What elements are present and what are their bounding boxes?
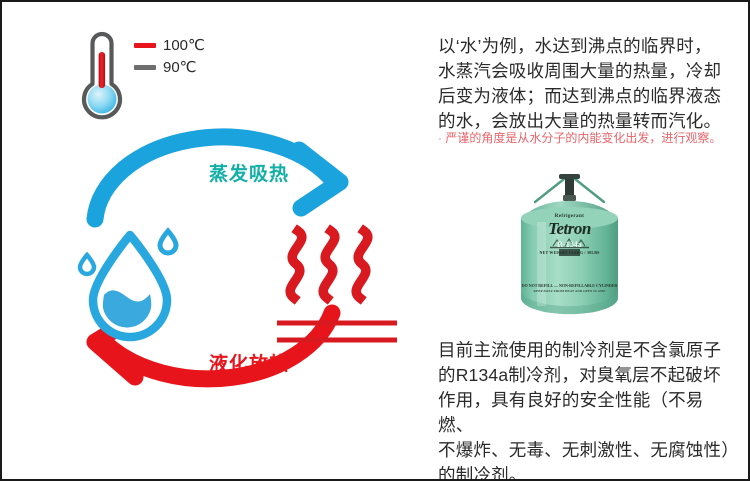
gray-dash-icon bbox=[134, 65, 156, 70]
legend-row-90: 90℃ bbox=[134, 56, 205, 78]
bottom-paragraph-line: 的制冷剂。 bbox=[438, 463, 733, 481]
heat-waves-icon bbox=[290, 231, 368, 298]
legend-label-90: 90℃ bbox=[163, 58, 197, 76]
bottom-paragraph-line: 目前主流使用的制冷剂是不含氯原子 bbox=[438, 338, 733, 363]
legend-row-100: 100℃ bbox=[134, 34, 205, 56]
water-drop-icon bbox=[80, 231, 176, 337]
refrigerant-cylinder-image: Refrigerant Tetron R-134a NET WEIGHT 13.… bbox=[507, 170, 632, 330]
top-paragraph-line: 后变为液体；而达到沸点的临界液态 bbox=[438, 84, 730, 109]
bottom-paragraph-line: 不爆炸、无毒、无刺激性、无腐蚀性） bbox=[438, 438, 733, 463]
bottom-paragraph: 目前主流使用的制冷剂是不含氯原子 的R134a制冷剂，对臭氧层不起破坏 作用，具… bbox=[438, 338, 733, 481]
thermometer-block: 100℃ 90℃ bbox=[72, 28, 212, 123]
thermometer-legend: 100℃ 90℃ bbox=[134, 34, 205, 78]
phase-change-cycle-diagram: 蒸发吸热 液化放热 bbox=[77, 127, 422, 417]
thermometer-icon bbox=[72, 28, 132, 123]
bottom-paragraph-line: 作用，具有良好的安全性能（不易燃、 bbox=[438, 388, 733, 438]
top-paragraph-line: 水蒸汽会吸收周围大量的热量，冷却 bbox=[438, 59, 730, 84]
red-dash-icon bbox=[134, 43, 156, 48]
cylinder-graphic bbox=[507, 170, 632, 330]
bottom-paragraph-line: 的R134a制冷剂，对臭氧层不起破坏 bbox=[438, 363, 733, 388]
top-paragraph-line: 以‘水’为例，水达到沸点的临界时， bbox=[438, 34, 730, 59]
infographic-canvas: 100℃ 90℃ bbox=[0, 0, 750, 481]
top-paragraph: 以‘水’为例，水达到沸点的临界时， 水蒸汽会吸收周围大量的热量，冷却 后变为液体… bbox=[438, 34, 730, 134]
condensation-label: 液化放热 bbox=[209, 349, 289, 376]
legend-label-100: 100℃ bbox=[163, 36, 205, 54]
heat-bars-icon bbox=[277, 323, 397, 340]
evaporation-label: 蒸发吸热 bbox=[209, 159, 289, 186]
top-paragraph-note: · 严谨的角度是从水分子的内能变化出发，进行观察。 bbox=[438, 130, 730, 146]
